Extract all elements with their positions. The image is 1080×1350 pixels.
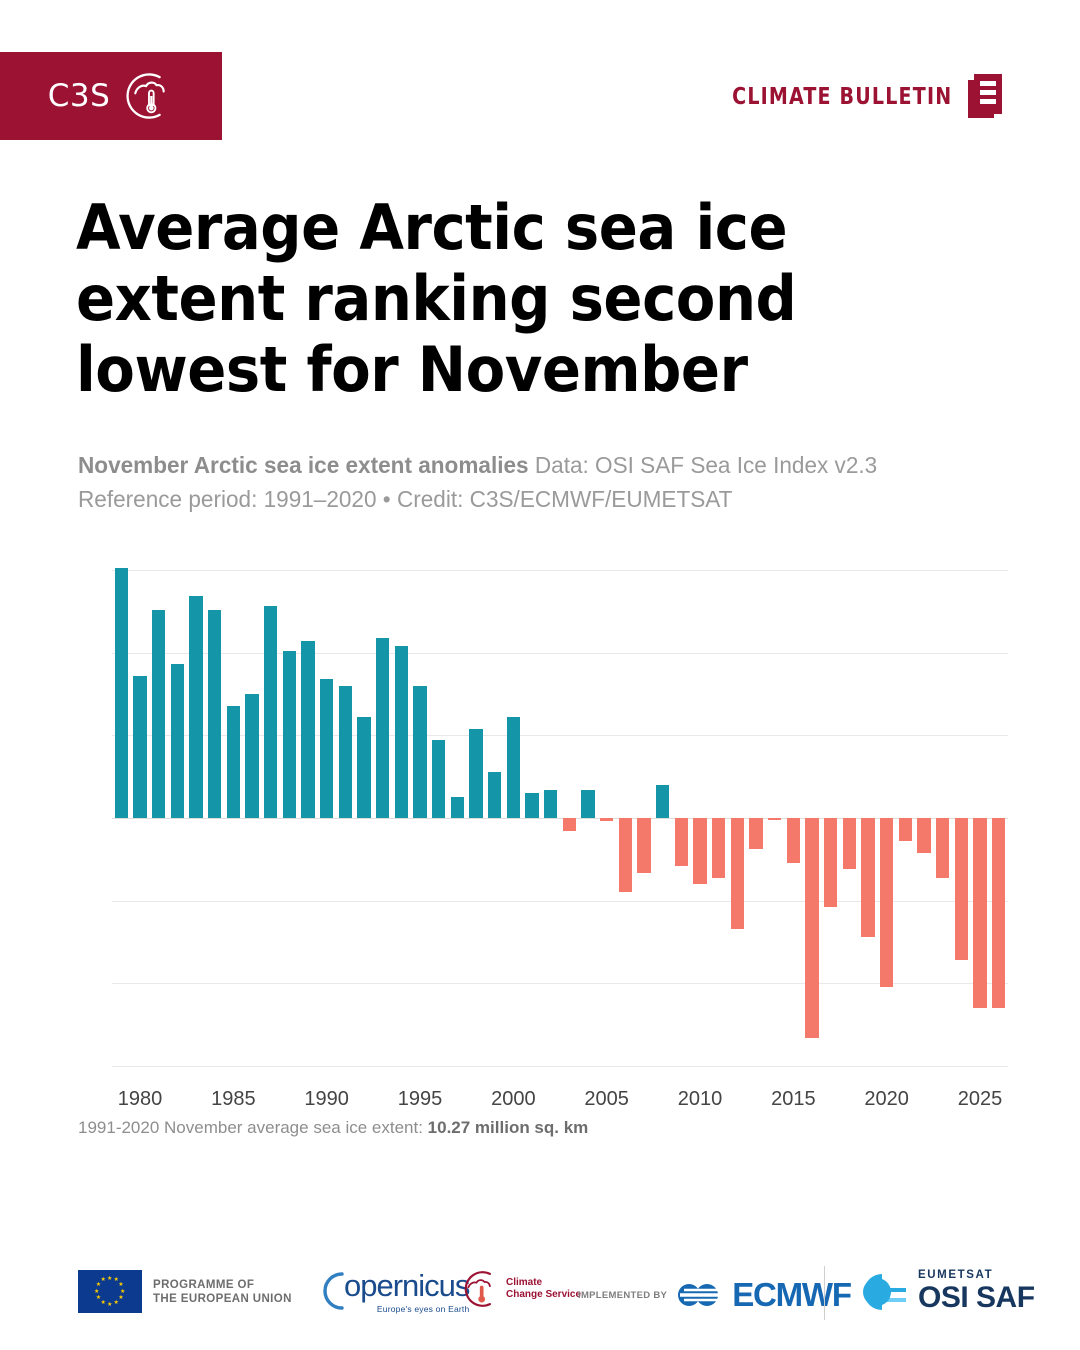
bar-2026 [992,818,1005,1008]
bar-2023 [936,818,949,878]
bar-1989 [301,641,314,818]
x-axis: 1980198519901995200020052010201520202025 [112,1088,1008,1118]
bar-1990 [320,679,333,818]
bar-2012 [731,818,744,929]
bar-1991 [339,686,352,818]
implemented-by-label: IMPLEMENTED BY [578,1290,667,1301]
bar-1993 [376,638,389,818]
gridline [112,1066,1008,1067]
eu-star-icon: ★ [118,1282,123,1288]
bar-2004 [581,790,594,818]
subtitle: November Arctic sea ice extent anomalies… [78,448,980,516]
footer: ★★★★★★★★★★★★ PROGRAMME OF THE EUROPEAN U… [0,1248,1080,1338]
x-axis-tick: 1990 [304,1088,349,1111]
eumetsat-osisaf-logo: EUMETSAT OSI SAF [852,1266,1035,1318]
bar-2013 [749,818,762,849]
bar-1994 [395,646,408,818]
bar-2014 [768,818,781,820]
osisaf-logo-icon [852,1266,910,1318]
bar-2006 [619,818,632,892]
bar-2011 [712,818,725,878]
x-axis-tick: 2010 [678,1088,723,1111]
x-axis-tick: 1995 [398,1088,443,1111]
osisaf-label: OSI SAF [918,1281,1035,1315]
eu-star-icon: ★ [107,1302,112,1308]
plot-area: 15%1050-5-10-15 [112,570,1008,1066]
bar-series [112,570,1008,1066]
copernicus-tagline: Europe's eyes on Earth [344,1304,469,1314]
eu-star-icon: ★ [101,1300,106,1306]
bar-2009 [675,818,688,866]
bar-1997 [451,797,464,818]
caption-value: 10.27 million sq. km [428,1118,589,1137]
bar-1992 [357,717,370,818]
eu-programme-label: PROGRAMME OF THE EUROPEAN UNION [153,1278,292,1306]
bar-1983 [189,596,202,818]
bar-1981 [152,610,165,818]
bar-1986 [245,694,258,818]
bar-2007 [637,818,650,873]
bar-2021 [899,818,912,841]
eu-star-icon: ★ [96,1295,101,1301]
x-axis-tick: 2000 [491,1088,536,1111]
eu-star-icon: ★ [118,1295,123,1301]
bar-2002 [544,790,557,818]
eu-logo: ★★★★★★★★★★★★ PROGRAMME OF THE EUROPEAN U… [78,1270,292,1313]
document-stack-icon [964,72,1008,122]
bar-2005 [600,818,613,821]
subtitle-source: Data: OSI SAF Sea Ice Index v2.3 [529,452,878,478]
caption-text: 1991-2020 November average sea ice exten… [78,1118,428,1137]
climate-bulletin-label: CLIMATE BULLETIN [732,84,952,110]
bulletin-page: C3S CLIMATE BULLETIN Average Arctic sea … [0,0,1080,1350]
header: C3S CLIMATE BULLETIN [0,0,1080,140]
subtitle-line2: Reference period: 1991–2020 • Credit: C3… [78,482,980,516]
bar-1988 [283,651,296,818]
bar-1985 [227,706,240,818]
c3s-footer-label: Climate Change Service [506,1277,581,1301]
eu-star-icon: ★ [107,1276,112,1282]
eu-star-icon: ★ [114,1300,119,1306]
x-axis-tick: 1980 [118,1088,163,1111]
x-axis-tick: 1985 [211,1088,256,1111]
bar-2019 [861,818,874,937]
eu-star-icon: ★ [101,1277,106,1283]
chart-caption: 1991-2020 November average sea ice exten… [78,1118,588,1138]
bar-2003 [563,818,576,831]
c3s-thermometer-icon [458,1268,500,1310]
bar-1982 [171,664,184,818]
bar-2010 [693,818,706,884]
x-axis-tick: 2015 [771,1088,816,1111]
bar-2022 [917,818,930,853]
bar-2016 [805,818,818,1038]
thermometer-cloud-circle-icon [120,69,174,123]
bar-2000 [507,717,520,818]
bar-1998 [469,729,482,818]
bar-2001 [525,793,538,818]
x-axis-tick: 2025 [958,1088,1003,1111]
bar-1995 [413,686,426,818]
eu-star-icon: ★ [94,1289,99,1295]
ecmwf-logo: IMPLEMENTED BY ECMWF [578,1276,851,1314]
c3s-brand-label: C3S [48,78,111,114]
bar-1996 [432,740,445,818]
eu-star-icon: ★ [120,1289,125,1295]
bar-1979 [115,568,128,818]
bar-1984 [208,610,221,818]
bar-2020 [880,818,893,987]
bar-2017 [824,818,837,907]
bar-1999 [488,772,501,818]
x-axis-tick: 2005 [584,1088,629,1111]
bar-2018 [843,818,856,869]
page-title: Average Arctic sea ice extent ranking se… [76,192,876,405]
ecmwf-logo-icon [674,1281,730,1309]
subtitle-lead: November Arctic sea ice extent anomalies [78,452,529,478]
bar-1980 [133,676,146,818]
bar-1987 [264,606,277,818]
bar-2015 [787,818,800,863]
copernicus-logo: opernicus Europe's eyes on Earth [312,1268,469,1314]
c3s-brand-block: C3S [0,52,222,140]
bar-2024 [955,818,968,960]
bar-2025 [973,818,986,1008]
copernicus-name: opernicus [344,1268,469,1304]
chart: 15%1050-5-10-15 198019851990199520002005… [0,548,1080,1108]
x-axis-tick: 2020 [864,1088,909,1111]
footer-divider [824,1266,825,1320]
bar-2008 [656,785,669,818]
eu-flag-icon: ★★★★★★★★★★★★ [78,1270,142,1313]
eumetsat-label: EUMETSAT [918,1269,1035,1281]
c3s-footer-logo: Climate Change Service [458,1268,581,1310]
ecmwf-name: ECMWF [732,1276,851,1314]
